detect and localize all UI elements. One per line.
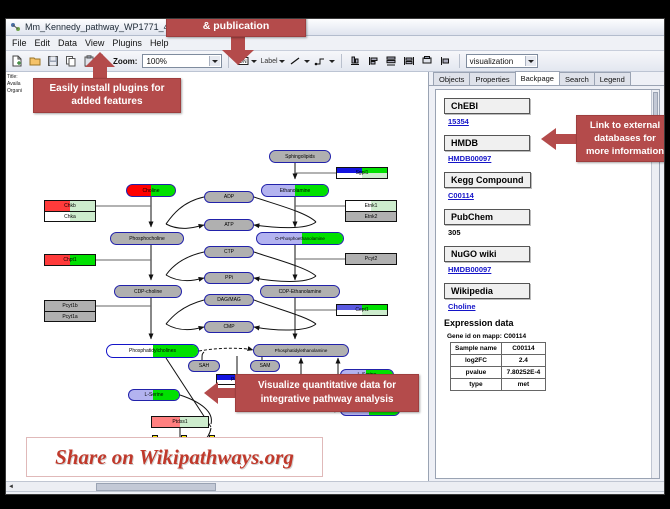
node-label: Phosphatidylcholines bbox=[129, 348, 176, 354]
save-file-button[interactable] bbox=[45, 54, 60, 69]
hmdb-header: HMDB bbox=[444, 135, 530, 151]
visualization-value: visualization bbox=[470, 57, 514, 66]
node-sphingolipids[interactable]: Sphingolipids bbox=[269, 150, 331, 163]
node-label: Chka bbox=[64, 214, 76, 220]
align-top-tool[interactable] bbox=[348, 54, 363, 69]
tab-objects[interactable]: Objects bbox=[433, 72, 470, 85]
node-sah[interactable]: SAH bbox=[188, 360, 220, 372]
node-label: O-Phosphoethanolamine bbox=[275, 236, 325, 242]
align-left-tool[interactable] bbox=[366, 54, 381, 69]
node-etnk2[interactable]: Etnk2 bbox=[345, 211, 397, 222]
callout-visualize-arrow bbox=[204, 381, 238, 405]
node-label: ADP bbox=[224, 194, 234, 200]
callout-external-databases: Link to external databases for more info… bbox=[576, 115, 665, 162]
same-width-tool[interactable] bbox=[402, 54, 417, 69]
new-file-button[interactable] bbox=[9, 54, 24, 69]
menu-bar: File Edit Data View Plugins Help bbox=[6, 36, 664, 51]
callout-links-arrow bbox=[541, 127, 579, 151]
callout-draw-arrow bbox=[221, 36, 255, 66]
node-label: Phosphatidylethanolamine bbox=[275, 348, 328, 354]
nugo-wiki-link[interactable]: HMDB00097 bbox=[448, 265, 659, 274]
callout-line-2: added features bbox=[34, 95, 180, 108]
expr-value: C00114 bbox=[501, 343, 545, 355]
chevron-down-icon[interactable] bbox=[209, 56, 220, 66]
line-chevron-icon[interactable] bbox=[304, 60, 310, 63]
kegg-compound-header: Kegg Compound bbox=[444, 172, 531, 188]
canvas-horizontal-scrollbar[interactable]: ◄ bbox=[6, 481, 664, 491]
node-phosphocholine[interactable]: Phosphocholine bbox=[110, 232, 184, 245]
menu-item-view[interactable]: View bbox=[85, 38, 104, 48]
stack-tool[interactable] bbox=[384, 54, 399, 69]
wikipedia-header: Wikipedia bbox=[444, 283, 530, 299]
menu-item-plugins[interactable]: Plugins bbox=[112, 38, 142, 48]
node-ptdss1[interactable]: Ptdss1 bbox=[151, 416, 209, 428]
node-ctp[interactable]: CTP bbox=[204, 246, 254, 258]
table-row: type met bbox=[451, 379, 546, 391]
callout-line-2: integrative pathway analysis bbox=[236, 393, 418, 407]
node-phosphatidylcholines[interactable]: Phosphatidylcholines bbox=[106, 344, 199, 358]
node-chka[interactable]: Chka bbox=[44, 211, 96, 222]
node-label: CMP bbox=[223, 324, 234, 330]
expr-key: pvalue bbox=[451, 367, 502, 379]
node-label: DAG/MAG bbox=[217, 297, 241, 303]
callout-line-1: Easily install plugins for bbox=[34, 82, 180, 95]
node-label: Pcyt1b bbox=[62, 303, 77, 309]
node-cmp[interactable]: CMP bbox=[204, 321, 254, 333]
pathvisio-icon bbox=[10, 22, 21, 33]
share-text: Share on Wikipathways.org bbox=[55, 445, 294, 470]
table-row: pvalue 7.80252E-4 bbox=[451, 367, 546, 379]
zoom-value: 100% bbox=[146, 57, 166, 66]
callout-draw-for-presentation: Draw for presentation & publication bbox=[166, 18, 306, 37]
node-sam[interactable]: SAM bbox=[250, 360, 280, 372]
node-label: L-Serine bbox=[145, 392, 164, 398]
pathway-canvas[interactable]: Title: Availa Organi bbox=[6, 72, 429, 481]
callout-line-2: & publication bbox=[167, 20, 305, 33]
expr-key: Sample name bbox=[451, 343, 502, 355]
group-tool[interactable] bbox=[420, 54, 435, 69]
node-l-serine-left[interactable]: L-Serine bbox=[128, 389, 180, 401]
node-etnk1[interactable]: Etnk1 bbox=[345, 200, 397, 211]
callout-line-1: Link to external bbox=[577, 119, 665, 132]
menu-item-edit[interactable]: Edit bbox=[35, 38, 51, 48]
node-chkb[interactable]: Chkb bbox=[44, 200, 96, 211]
expr-value: met bbox=[501, 379, 545, 391]
node-label: SAM bbox=[260, 363, 271, 369]
node-label: Cept1 bbox=[355, 307, 368, 313]
interaction-tool[interactable] bbox=[313, 54, 335, 69]
wikipedia-link[interactable]: Choline bbox=[448, 302, 659, 311]
visualization-chevron-icon[interactable] bbox=[525, 56, 536, 66]
label-chevron-icon[interactable] bbox=[279, 60, 285, 63]
expr-key: type bbox=[451, 379, 502, 391]
node-adp[interactable]: ADP bbox=[204, 191, 254, 203]
scroll-left-arrow[interactable]: ◄ bbox=[6, 482, 16, 491]
node-label: Pcyt2 bbox=[365, 256, 378, 262]
node-cept1[interactable]: Cept1 bbox=[336, 304, 388, 316]
node-label: Sgpl1 bbox=[356, 170, 369, 176]
node-chpt1[interactable]: Chpt1 bbox=[44, 254, 96, 266]
node-label: Etnk1 bbox=[365, 203, 378, 209]
node-label: Phosphocholine bbox=[129, 236, 165, 242]
node-dag-mag[interactable]: DAG/MAG bbox=[204, 294, 254, 306]
line-icon[interactable] bbox=[288, 54, 303, 69]
node-label: Ptdss1 bbox=[172, 419, 187, 425]
pathvisio-window: Mm_Kennedy_pathway_WP1771_45176.gpml Fil… bbox=[5, 18, 665, 495]
menu-item-help[interactable]: Help bbox=[150, 38, 169, 48]
chebi-header: ChEBI bbox=[444, 98, 530, 114]
node-pcyt1b[interactable]: Pcyt1b bbox=[44, 300, 96, 311]
order-tool[interactable] bbox=[438, 54, 453, 69]
node-cdp-ethanolamine[interactable]: CDP-Ethanolamine bbox=[260, 285, 340, 298]
node-label: Ethanolamine bbox=[280, 188, 311, 194]
node-cdp-choline[interactable]: CDP-choline bbox=[114, 285, 182, 298]
node-label: Chkb bbox=[64, 203, 76, 209]
expression-data-heading: Expression data bbox=[444, 318, 659, 328]
menu-item-data[interactable]: Data bbox=[58, 38, 77, 48]
open-file-button[interactable] bbox=[27, 54, 42, 69]
expr-key: log2FC bbox=[451, 355, 502, 367]
copy-button[interactable] bbox=[63, 54, 78, 69]
tab-legend[interactable]: Legend bbox=[594, 72, 631, 85]
label-tool-label: Label bbox=[260, 58, 277, 65]
scrollbar-thumb[interactable] bbox=[96, 483, 216, 491]
table-row: Sample name C00114 bbox=[451, 343, 546, 355]
interaction-icon[interactable] bbox=[313, 54, 328, 69]
pubchem-header: PubChem bbox=[444, 209, 530, 225]
window-titlebar: Mm_Kennedy_pathway_WP1771_45176.gpml bbox=[6, 19, 664, 36]
node-pcyt2[interactable]: Pcyt2 bbox=[345, 253, 397, 265]
toolbar-separator-4 bbox=[459, 54, 460, 68]
kegg-compound-link[interactable]: C00114 bbox=[448, 191, 659, 200]
tab-backpage[interactable]: Backpage bbox=[515, 71, 560, 85]
expr-value: 7.80252E-4 bbox=[501, 367, 545, 379]
callout-plugins-arrow bbox=[84, 52, 116, 80]
callout-visualize-data: Visualize quantitative data for integrat… bbox=[235, 374, 419, 412]
line-tool[interactable] bbox=[288, 54, 310, 69]
gene-id-on-mapp: Gene id on mapp: C00114 bbox=[447, 333, 659, 340]
expr-value: 2.4 bbox=[501, 355, 545, 367]
callout-line-3: more information bbox=[577, 145, 665, 158]
node-label: ATP bbox=[224, 222, 233, 228]
node-atp[interactable]: ATP bbox=[204, 219, 254, 231]
callout-line-2: databases for bbox=[577, 132, 665, 145]
expression-table: Sample name C00114 log2FC 2.4 pvalue 7.8… bbox=[450, 342, 546, 391]
tab-search[interactable]: Search bbox=[559, 72, 595, 85]
node-label: Etnk2 bbox=[365, 214, 378, 220]
zoom-label: Zoom: bbox=[113, 57, 137, 66]
menu-item-file[interactable]: File bbox=[12, 38, 27, 48]
label-tool[interactable]: Label bbox=[260, 58, 284, 65]
node-label: CDP-Ethanolamine bbox=[279, 289, 322, 295]
node-label: Choline bbox=[143, 188, 160, 194]
node-label: CDP-choline bbox=[134, 289, 162, 295]
node-phosphatidylethanolamine[interactable]: Phosphatidylethanolamine bbox=[253, 344, 349, 357]
callout-install-plugins: Easily install plugins for added feature… bbox=[33, 78, 181, 113]
tab-properties[interactable]: Properties bbox=[469, 72, 515, 85]
node-label: CTP bbox=[224, 249, 234, 255]
table-row: log2FC 2.4 bbox=[451, 355, 546, 367]
callout-share-wikipathways: Share on Wikipathways.org bbox=[26, 437, 323, 477]
node-choline[interactable]: Choline bbox=[126, 184, 176, 197]
node-pcyt1a[interactable]: Pcyt1a bbox=[44, 311, 96, 322]
node-ppi[interactable]: PPi bbox=[204, 272, 254, 284]
visualization-combo[interactable]: visualization bbox=[466, 54, 538, 68]
interaction-chevron-icon[interactable] bbox=[329, 60, 335, 63]
callout-line-1: Visualize quantitative data for bbox=[236, 379, 418, 393]
side-panel-tabs: Objects Properties Backpage Search Legen… bbox=[429, 72, 664, 86]
node-label: PPi bbox=[225, 275, 233, 281]
node-label: SAH bbox=[199, 363, 209, 369]
pubchem-value: 305 bbox=[448, 228, 659, 237]
node-label: Sphingolipids bbox=[285, 154, 315, 160]
node-ethanolamine-top[interactable]: Ethanolamine bbox=[261, 184, 329, 197]
node-label: Pcyt1a bbox=[62, 314, 77, 320]
node-label: Chpt1 bbox=[63, 257, 76, 263]
nugo-wiki-header: NuGO wiki bbox=[444, 246, 530, 262]
zoom-combo[interactable]: 100% bbox=[142, 54, 222, 68]
node-sgpl1[interactable]: Sgpl1 bbox=[336, 167, 388, 179]
toolbar-separator-3 bbox=[341, 54, 342, 68]
node-o-phosphoethanolamine[interactable]: O-Phosphoethanolamine bbox=[256, 232, 344, 245]
status-bar: | Gene database: ...m_Derby_20120602.bri… bbox=[6, 491, 664, 495]
